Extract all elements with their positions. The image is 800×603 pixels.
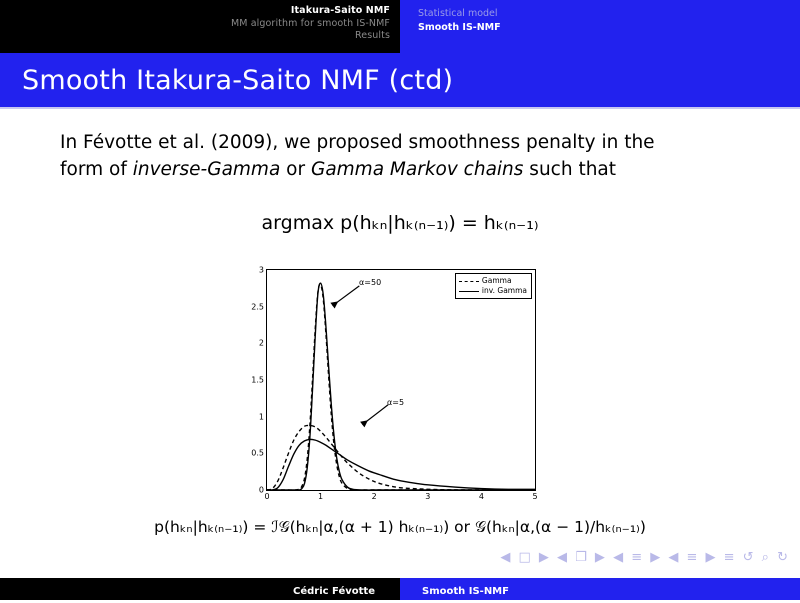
nav-item-itakura-saito-nmf[interactable]: Itakura-Saito NMF <box>0 5 390 18</box>
y-tick-0.5: 0.5 <box>251 449 267 458</box>
header-bar: Itakura-Saito NMF MM algorithm for smoot… <box>0 0 800 53</box>
body-line-2-part-c: such that <box>523 159 616 180</box>
legend-solid-line-icon <box>459 291 479 292</box>
plot-legend: Gamma inv. Gamma <box>455 273 532 299</box>
equation-argmax: argmax p(hₖₙ|hₖ₍ₙ₋₁₎) = hₖ₍ₙ₋₁₎ <box>0 212 800 234</box>
x-tick-4: 4 <box>479 490 484 501</box>
title-bar: Smooth Itakura-Saito NMF (ctd) <box>0 53 800 108</box>
body-line-2-part-a: form of <box>60 159 133 180</box>
footer-author: Cédric Févotte <box>293 586 375 597</box>
section-item-statistical-model[interactable]: Statistical model <box>418 7 800 21</box>
body-emphasis-gamma-markov-chains: Gamma Markov chains <box>311 159 523 180</box>
nav-item-results[interactable]: Results <box>0 30 390 43</box>
equation-density-definition: p(hₖₙ|hₖ₍ₙ₋₁₎) = ℐ𝒢(hₖₙ|α,(α + 1) hₖ₍ₙ₋₁… <box>0 518 800 537</box>
legend-dashed-line-icon <box>459 281 479 282</box>
body-line-1: In Févotte et al. (2009), we proposed sm… <box>60 132 655 153</box>
title-underline-divider <box>0 107 800 109</box>
x-tick-3: 3 <box>425 490 430 501</box>
header-section-nav: Statistical model Smooth IS-NMF <box>400 0 800 53</box>
footer-bar: Cédric Févotte Smooth IS-NMF <box>0 578 800 600</box>
legend-entry-inv-gamma: inv. Gamma <box>459 286 527 296</box>
y-tick-2.5: 2.5 <box>251 302 267 311</box>
x-tick-5: 5 <box>532 490 537 501</box>
section-item-smooth-is-nmf[interactable]: Smooth IS-NMF <box>418 21 800 35</box>
annotation-alpha-50: α=50 <box>359 278 381 287</box>
footer-section: Smooth IS-NMF <box>422 586 509 597</box>
distribution-plot-figure: 0 0.5 1 1.5 2 2.5 3 0 1 2 3 4 5 α=50 α=5 <box>256 266 546 506</box>
y-tick-1: 1 <box>259 412 267 421</box>
legend-label-gamma: Gamma <box>482 276 512 286</box>
body-line-2-part-b: or <box>280 159 311 180</box>
footer-author-area: Cédric Févotte <box>0 578 400 600</box>
legend-label-inv-gamma: inv. Gamma <box>482 286 527 296</box>
x-tick-2: 2 <box>372 490 377 501</box>
header-nav-frames: Itakura-Saito NMF MM algorithm for smoot… <box>0 0 400 53</box>
annotation-alpha-5: α=5 <box>387 398 404 407</box>
plot-curves <box>267 270 535 490</box>
body-emphasis-inverse-gamma: inverse-Gamma <box>133 159 281 180</box>
x-tick-0: 0 <box>264 490 269 501</box>
plot-frame: 0 0.5 1 1.5 2 2.5 3 0 1 2 3 4 5 α=50 α=5 <box>266 269 536 491</box>
legend-entry-gamma: Gamma <box>459 276 527 286</box>
page-title: Smooth Itakura-Saito NMF (ctd) <box>22 65 453 96</box>
footer-section-area: Smooth IS-NMF <box>400 578 800 600</box>
y-tick-1.5: 1.5 <box>251 376 267 385</box>
x-tick-1: 1 <box>318 490 323 501</box>
nav-item-mm-algorithm[interactable]: MM algorithm for smooth IS-NMF <box>0 18 390 31</box>
plot-series-0 <box>267 284 535 490</box>
y-tick-2: 2 <box>259 339 267 348</box>
y-tick-3: 3 <box>259 266 267 275</box>
beamer-navigation-symbols[interactable]: ◀ □ ▶ ◀ ❐ ▶ ◀ ≡ ▶ ◀ ≡ ▶ ≡ ↺ ⌕ ↻ <box>500 550 790 565</box>
slide-body-text: In Févotte et al. (2009), we proposed sm… <box>60 129 740 183</box>
